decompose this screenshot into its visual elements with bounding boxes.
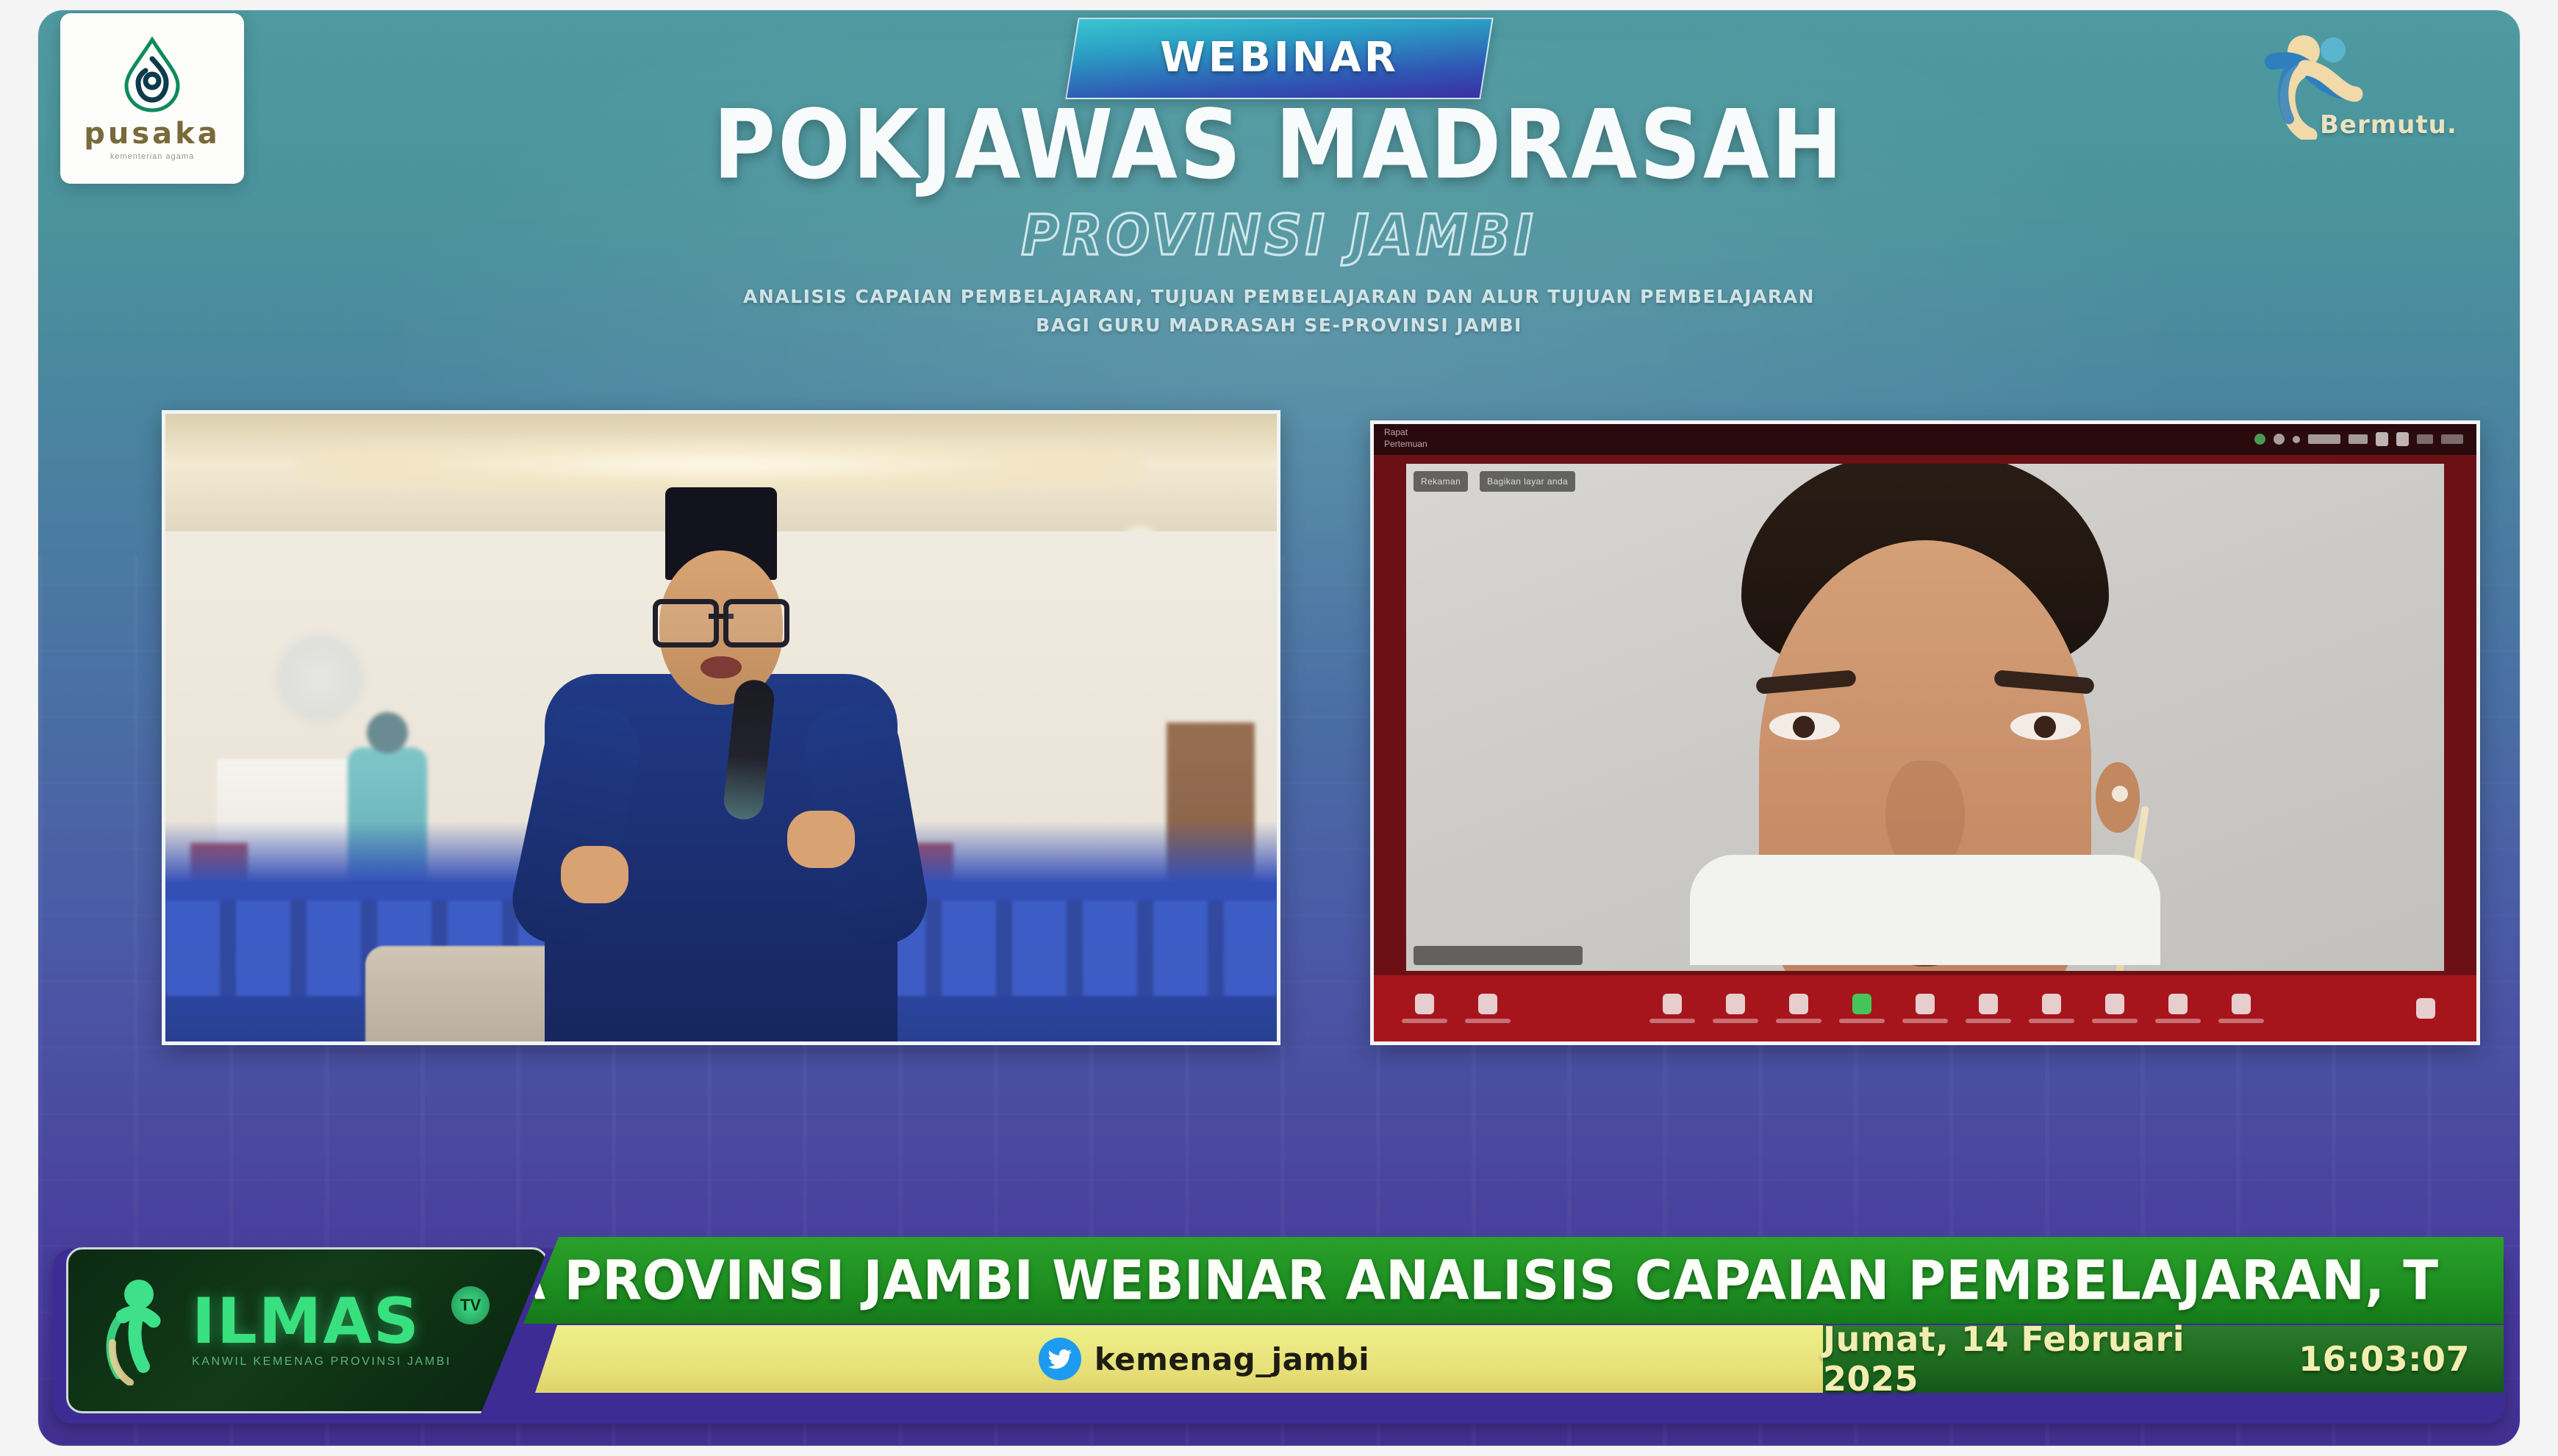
shield-icon — [2254, 434, 2265, 445]
page-description: ANALISIS CAPAIAN PEMBELAJARAN, TUJUAN PE… — [38, 283, 2520, 340]
meeting-toolbar[interactable] — [1374, 975, 2476, 1041]
date-label: Jumat, 14 Februari 2025 — [1823, 1319, 2228, 1399]
speaker-person — [515, 483, 927, 1041]
page-description-line2: BAGI GURU MADRASAH SE-PROVINSI JAMBI — [38, 312, 2520, 340]
shared-screen-panel[interactable]: Rapat Pertemuan — [1370, 420, 2480, 1045]
toolbar-whiteboard-icon[interactable] — [2083, 994, 2146, 1023]
screen-share-window: Rapat Pertemuan — [1374, 424, 2476, 1041]
glasses-icon — [653, 599, 789, 637]
recording-pill[interactable]: Rekaman — [1414, 471, 1468, 492]
toolbar-mic-icon[interactable] — [1393, 994, 1456, 1023]
page-title: POKJAWAS MADRASAH — [38, 97, 2520, 195]
wall-fan-icon — [276, 634, 364, 722]
screen-share-pills[interactable]: Rekaman Bagikan layar anda — [1414, 471, 1575, 492]
screen-share-status-pill — [1414, 946, 1583, 965]
channel-tv-badge: TV — [451, 1286, 490, 1324]
toolbar-participants-icon[interactable] — [1641, 994, 1704, 1023]
channel-brand: ILMAS — [192, 1292, 451, 1352]
webinar-badge: WEBINAR — [1065, 18, 1493, 99]
channel-slogan: KANWIL KEMENAG PROVINSI JAMBI — [192, 1355, 451, 1369]
participant-nose — [1885, 761, 1965, 869]
volume-icon — [2417, 434, 2433, 444]
battery-icon — [2376, 432, 2388, 446]
screen-share-titlebar: Rapat Pertemuan — [1374, 424, 2476, 455]
toolbar-apps-icon[interactable] — [2020, 994, 2083, 1023]
headline-text: A PROVINSI JAMBI WEBINAR ANALISIS CAPAIA… — [523, 1249, 2439, 1313]
speaker-hand-left — [561, 846, 628, 903]
page-subtitle: PROVINSI JAMBI — [38, 203, 2520, 268]
time-label: 16:03:07 — [2299, 1339, 2470, 1379]
channel-wordmark-group: ILMAS TV KANWIL KEMENAG PROVINSI JAMBI — [192, 1292, 451, 1369]
broadcast-frame: pusaka kementerian agama Bermutu. WEBINA… — [38, 10, 2520, 1446]
system-tray[interactable] — [2254, 432, 2463, 446]
toolbar-share-screen-icon[interactable] — [1830, 994, 1894, 1023]
participant-face — [1646, 464, 2204, 961]
toolbar-chat-icon[interactable] — [1704, 994, 1767, 1023]
toolbar-more-icon[interactable] — [2210, 994, 2273, 1023]
speaker-hand-right — [787, 811, 855, 868]
earphone-icon — [2112, 786, 2128, 802]
dot-icon — [2293, 436, 2300, 443]
datetime-band: Jumat, 14 Februari 2025 16:03:07 — [1823, 1325, 2504, 1393]
cloud-icon — [2274, 434, 2285, 445]
social-band: kemenag_jambi — [535, 1325, 1873, 1393]
shared-screen-content: Rekaman Bagikan layar anda — [1406, 464, 2444, 971]
ilmas-runner-icon — [101, 1275, 187, 1385]
toolbar-leave-icon[interactable] — [2394, 998, 2457, 1019]
speaker-mouth — [701, 656, 742, 678]
toolbar-raise-hand-icon[interactable] — [1767, 994, 1830, 1023]
headline-ticker: A PROVINSI JAMBI WEBINAR ANALISIS CAPAIA… — [523, 1237, 2504, 1324]
broadcast-screenshot: pusaka kementerian agama Bermutu. WEBINA… — [0, 0, 2558, 1456]
network-label — [2308, 434, 2340, 444]
toolbar-pause-icon[interactable] — [2146, 994, 2210, 1023]
social-handle: kemenag_jambi — [1095, 1341, 1369, 1377]
twitter-icon — [1039, 1338, 1081, 1380]
hall-background — [165, 414, 1277, 1041]
toolbar-camera-icon[interactable] — [1456, 994, 1519, 1023]
lower-third: A PROVINSI JAMBI WEBINAR ANALISIS CAPAIA… — [38, 1221, 2520, 1441]
share-screen-pill[interactable]: Bagikan layar anda — [1480, 471, 1575, 492]
toolbar-record-icon[interactable] — [1894, 994, 1957, 1023]
participant-eye-right — [2010, 712, 2081, 740]
speaker-video-panel[interactable] — [162, 410, 1280, 1045]
screen-share-window-subtitle: Pertemuan — [1384, 439, 1427, 449]
participant-shirt — [1690, 855, 2160, 965]
screen-share-window-title: Rapat — [1384, 427, 1408, 437]
webinar-badge-label: WEBINAR — [1160, 34, 1399, 82]
channel-logo-plate: ILMAS TV KANWIL KEMENAG PROVINSI JAMBI — [66, 1247, 548, 1413]
battery-icon — [2396, 432, 2409, 446]
header-block: WEBINAR POKJAWAS MADRASAH PROVINSI JAMBI… — [38, 18, 2520, 340]
toolbar-reactions-icon[interactable] — [1957, 994, 2020, 1023]
clock-icon — [2441, 434, 2463, 444]
signal-icon — [2349, 434, 2368, 444]
participant-eye-left — [1769, 712, 1840, 740]
page-description-line1: ANALISIS CAPAIAN PEMBELAJARAN, TUJUAN PE… — [38, 283, 2520, 312]
